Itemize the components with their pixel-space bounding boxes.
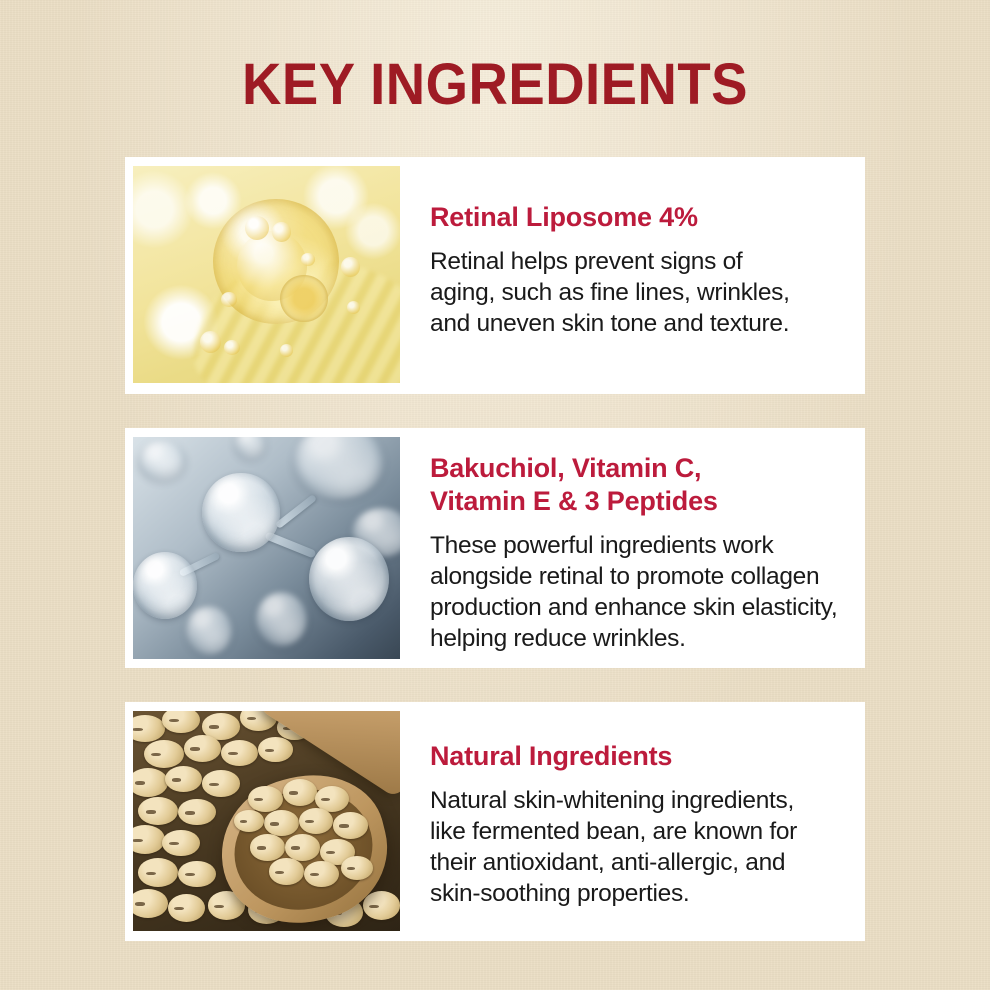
card-heading: Retinal Liposome 4% [430, 201, 847, 234]
molecule-sphere-shape [309, 537, 389, 621]
card-text-block: Bakuchiol, Vitamin C, Vitamin E & 3 Pept… [400, 428, 865, 654]
ingredient-card: Retinal Liposome 4% Retinal helps preven… [125, 157, 865, 394]
golden-liposome-bubbles-image [133, 166, 400, 383]
molecule-sphere-shape [138, 441, 186, 481]
card-text-block: Retinal Liposome 4% Retinal helps preven… [400, 157, 865, 339]
molecule-sphere-shape [202, 473, 279, 553]
card-description: Retinal helps prevent signs of aging, su… [430, 246, 847, 339]
molecule-bond-shape [275, 494, 317, 529]
soybean-shape [178, 861, 215, 887]
ingredient-card: Natural Ingredients Natural skin-whiteni… [125, 702, 865, 941]
molecule-sphere-shape [133, 552, 197, 619]
soybean-shape [304, 861, 339, 887]
soybean-shape [250, 834, 285, 860]
molecule-sphere-shape [186, 606, 231, 655]
small-bubble-shape [280, 275, 328, 323]
molecule-sphere-shape [293, 437, 384, 499]
bubble-dot-shape [301, 253, 314, 266]
soybean-shape [165, 766, 202, 792]
card-heading: Bakuchiol, Vitamin C, Vitamin E & 3 Pept… [430, 452, 847, 518]
soybean-shape [133, 825, 165, 854]
soybean-shape [133, 889, 168, 918]
page-title: KEY INGREDIENTS [30, 56, 961, 114]
soybean-shape [133, 715, 165, 741]
soybean-shape [184, 735, 221, 761]
soybean-shape [283, 779, 318, 805]
molecule-sphere-shape [256, 592, 307, 645]
bubble-dot-shape [200, 331, 221, 353]
molecule-sphere-shape [234, 437, 266, 459]
soybean-shape [138, 797, 178, 826]
soybean-shape [162, 711, 199, 733]
bubble-dot-shape [272, 222, 291, 242]
card-description: Natural skin-whitening ingredients, like… [430, 785, 847, 909]
soybean-shape [264, 810, 299, 836]
soybean-shape [285, 834, 320, 860]
soybean-shape [138, 858, 178, 887]
bubble-dot-shape [347, 301, 360, 314]
card-description: These powerful ingredients work alongsid… [430, 530, 847, 654]
soybean-shape [162, 830, 199, 856]
infographic-page: KEY INGREDIENTS Retinal Liposome 4% Reti… [0, 0, 990, 990]
soybean-shape [258, 737, 293, 761]
soybean-shape [269, 858, 304, 884]
soybean-shape [221, 740, 258, 766]
bubble-dot-shape [280, 344, 293, 357]
soybean-shape [363, 891, 400, 920]
soybean-shape [144, 740, 184, 769]
ingredient-card: Bakuchiol, Vitamin C, Vitamin E & 3 Pept… [125, 428, 865, 668]
soybean-shape [133, 768, 168, 797]
soybean-shape [333, 812, 368, 838]
soybean-shape [248, 786, 283, 812]
soybean-shape [234, 810, 263, 832]
bubble-dot-shape [245, 216, 269, 240]
bubble-dot-shape [221, 292, 237, 307]
card-heading: Natural Ingredients [430, 740, 847, 773]
bubble-dot-shape [224, 340, 240, 355]
soybean-shape [168, 894, 205, 923]
soybeans-wooden-spoon-image [133, 711, 400, 931]
card-text-block: Natural Ingredients Natural skin-whiteni… [400, 702, 865, 909]
bubble-dot-shape [341, 257, 360, 277]
soybean-shape [202, 770, 239, 796]
soybean-shape [178, 799, 215, 825]
molecule-spheres-image [133, 437, 400, 659]
